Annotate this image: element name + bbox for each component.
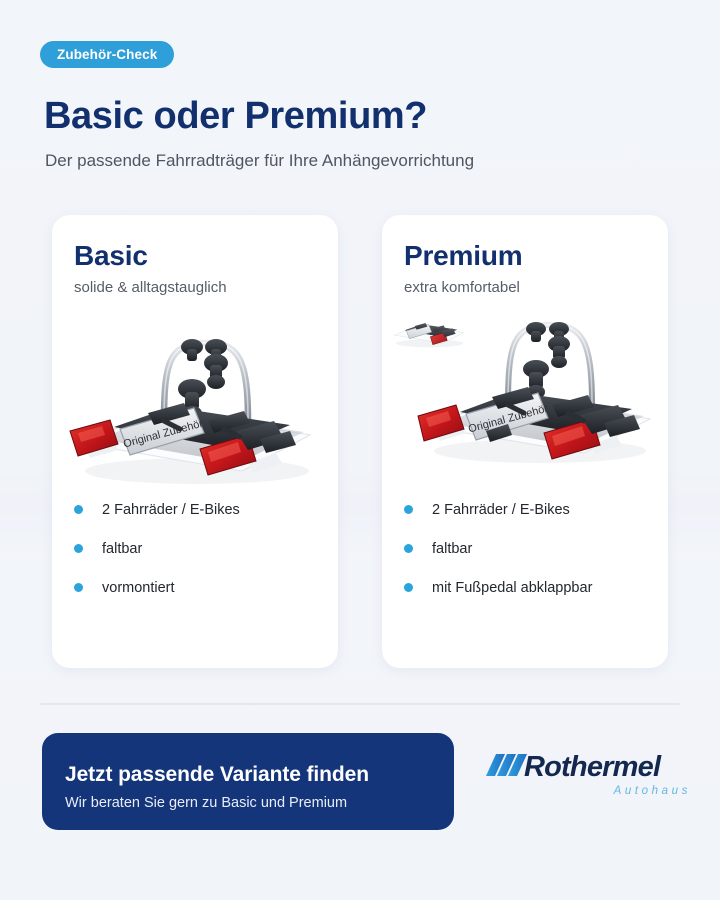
feature-list-basic: 2 Fahrräder / E-Bikes faltbar vormontier… (74, 490, 240, 607)
feature-label: mit Fußpedal abklappbar (432, 580, 592, 596)
cta-subtitle: Wir beraten Sie gern zu Basic und Premiu… (65, 793, 347, 813)
cta-button[interactable]: Jetzt passende Variante finden Wir berat… (42, 733, 454, 830)
feature-list-premium: 2 Fahrräder / E-Bikes faltbar mit Fußped… (404, 490, 592, 607)
page-title: Basic oder Premium? (44, 94, 427, 138)
feature-item: 2 Fahrräder / E-Bikes (74, 490, 240, 529)
feature-item: 2 Fahrräder / E-Bikes (404, 490, 592, 529)
logo-tagline: Autohaus (613, 785, 691, 797)
feature-label: faltbar (102, 541, 142, 557)
feature-item: faltbar (404, 529, 592, 568)
bullet-dot-icon (74, 583, 83, 592)
category-badge: Zubehör-Check (40, 41, 174, 68)
variant-card-premium[interactable]: Premium extra komfortabel (382, 215, 668, 668)
feature-label: faltbar (432, 541, 472, 557)
variant-card-basic[interactable]: Basic solide & alltagstauglich (52, 215, 338, 668)
poster-root: Zubehör-Check Basic oder Premium? Der pa… (0, 0, 720, 900)
bike-rack-image-premium: Original Zubehör (382, 275, 668, 470)
feature-label: vormontiert (102, 580, 175, 596)
cta-title: Jetzt passende Variante finden (65, 762, 369, 788)
bullet-dot-icon (74, 505, 83, 514)
feature-label: 2 Fahrräder / E-Bikes (102, 502, 240, 518)
brand-logo: Rothermel Autohaus (484, 746, 698, 802)
page-subtitle: Der passende Fahrradträger für Ihre Anhä… (45, 149, 474, 172)
card-title: Premium (404, 240, 522, 272)
logo-wordmark: Rothermel (524, 751, 662, 783)
card-subtitle: solide & alltagstauglich (74, 278, 227, 298)
bike-rack-image-basic: Original Zubehör (52, 303, 338, 498)
bullet-dot-icon (404, 544, 413, 553)
feature-item: faltbar (74, 529, 240, 568)
feature-label: 2 Fahrräder / E-Bikes (432, 502, 570, 518)
footer-divider (40, 703, 680, 705)
logo-bars-icon (486, 754, 527, 776)
bullet-dot-icon (74, 544, 83, 553)
bullet-dot-icon (404, 505, 413, 514)
card-title: Basic (74, 240, 148, 272)
feature-item: mit Fußpedal abklappbar (404, 568, 592, 607)
bullet-dot-icon (404, 583, 413, 592)
feature-item: vormontiert (74, 568, 240, 607)
